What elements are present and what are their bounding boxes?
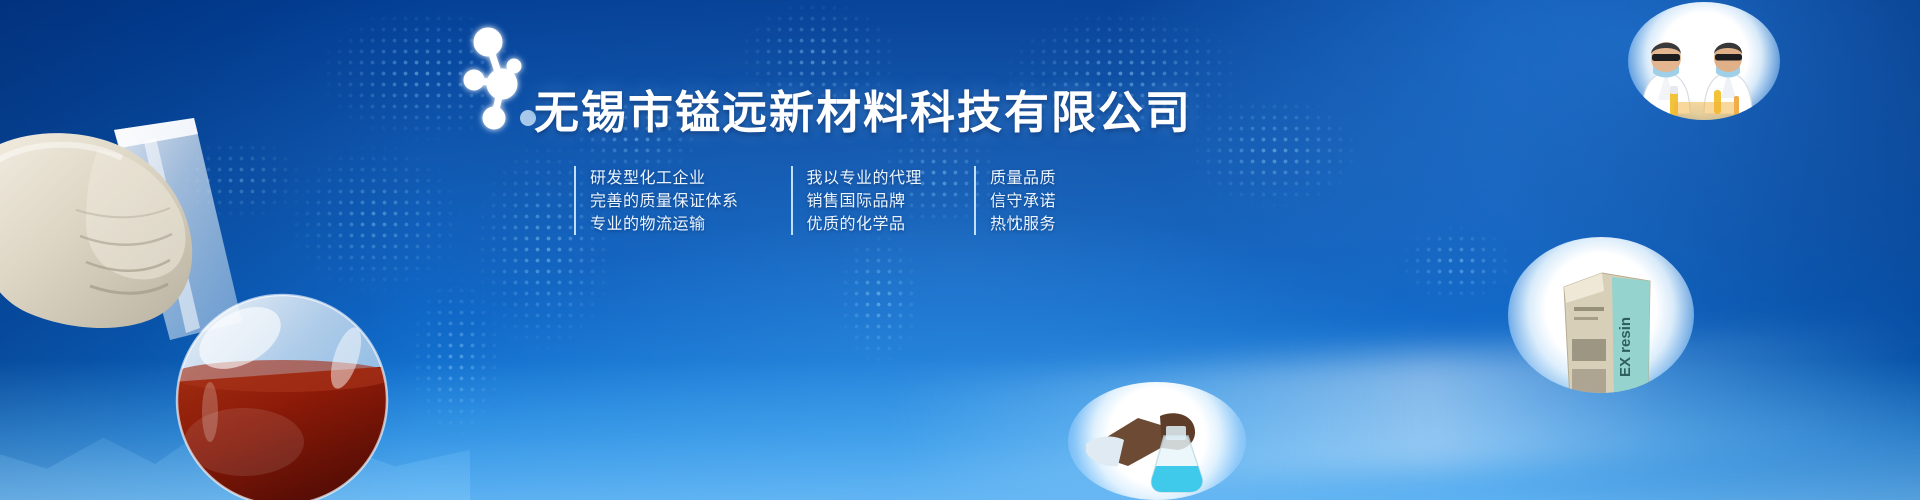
slogan-line: 我以专业的代理 [807,166,923,189]
gloved-hand-flask-photo [0,90,414,500]
slogan-line: 完善的质量保证体系 [590,189,739,212]
slogan-column-1: 研发型化工企业 完善的质量保证体系 专业的物流运输 [574,166,739,235]
badge-hand-blue-flask [1068,382,1246,500]
badge-resin-bag: EX resin [1508,237,1694,393]
slogan-group: 研发型化工企业 完善的质量保证体系 专业的物流运输 我以专业的代理 销售国际品牌… [574,166,1108,235]
company-banner: 无锡市镒远新材料科技有限公司 研发型化工企业 完善的质量保证体系 专业的物流运输… [0,0,1920,500]
slogan-line: 专业的物流运输 [590,212,739,235]
slogan-line: 研发型化工企业 [590,166,739,189]
resin-bag-label: EX resin [1617,317,1634,377]
lab-scientists-photo [1628,2,1780,120]
badge-lab-scientists [1628,2,1780,120]
slogan-line: 信守承诺 [990,189,1056,212]
slogan-column-2: 我以专业的代理 销售国际品牌 优质的化学品 [791,166,923,235]
slogan-line: 热忱服务 [990,212,1056,235]
page-title: 无锡市镒远新材料科技有限公司 [534,88,1192,138]
slogan-column-3: 质量品质 信守承诺 热忱服务 [974,166,1056,235]
resin-bag-photo: EX resin [1508,237,1694,393]
hand-blue-flask-photo [1068,382,1246,500]
slogan-line: 优质的化学品 [807,212,923,235]
slogan-line: 质量品质 [990,166,1056,189]
slogan-line: 销售国际品牌 [807,189,923,212]
